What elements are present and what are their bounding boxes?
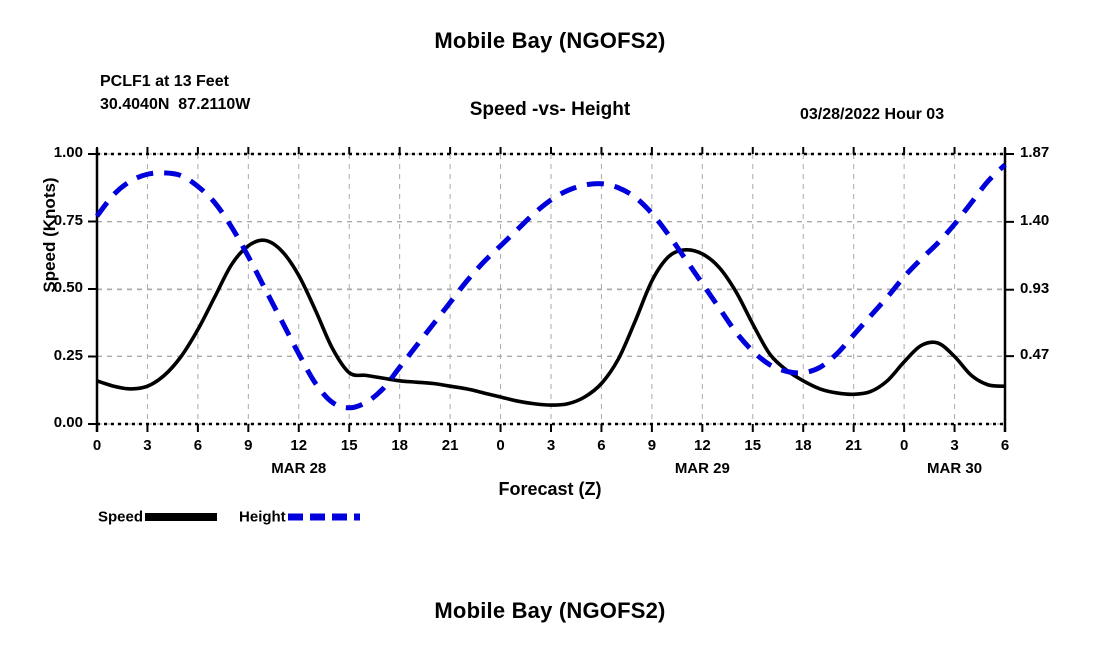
x-ticklabel: 12	[682, 437, 722, 454]
y-left-ticklabel: 1.00	[25, 144, 83, 161]
legend-label: Height	[239, 508, 286, 525]
y-right-ticklabel: 1.87	[1020, 144, 1080, 161]
x-ticklabel: 21	[834, 437, 874, 454]
x-ticklabel: 6	[581, 437, 621, 454]
legend-item-speed: Speed	[98, 508, 239, 526]
x-ticklabel: 18	[783, 437, 823, 454]
x-day-label: MAR 30	[895, 460, 1015, 477]
x-ticklabel: 3	[935, 437, 975, 454]
x-ticklabel: 18	[380, 437, 420, 454]
x-ticklabel: 9	[632, 437, 672, 454]
x-ticklabel: 0	[77, 437, 117, 454]
y-right-ticklabel: 1.40	[1020, 212, 1080, 229]
y-right-ticklabel: 0.93	[1020, 280, 1080, 297]
chart-svg	[0, 0, 1100, 650]
chart-legend: SpeedHeight	[98, 508, 382, 530]
legend-swatch-speed	[145, 511, 217, 523]
x-ticklabel: 3	[531, 437, 571, 454]
legend-label: Speed	[98, 508, 143, 525]
y-right-ticklabel: 0.47	[1020, 346, 1080, 363]
x-ticklabel: 0	[884, 437, 924, 454]
x-ticklabel: 12	[279, 437, 319, 454]
x-ticklabel: 9	[228, 437, 268, 454]
x-ticklabel: 15	[733, 437, 773, 454]
y-left-ticklabel: 0.25	[25, 347, 83, 364]
legend-item-height: Height	[239, 508, 382, 526]
x-ticklabel: 21	[430, 437, 470, 454]
chart-plot-area	[0, 0, 1100, 650]
y-left-ticklabel: 0.50	[25, 279, 83, 296]
legend-swatch-height	[288, 511, 360, 523]
x-ticklabel: 6	[178, 437, 218, 454]
x-day-label: MAR 28	[239, 460, 359, 477]
x-ticklabel: 15	[329, 437, 369, 454]
grid-layer	[97, 154, 1005, 424]
y-left-ticklabel: 0.75	[25, 212, 83, 229]
x-ticklabel: 6	[985, 437, 1025, 454]
page-title-bottom: Mobile Bay (NGOFS2)	[0, 598, 1100, 624]
x-ticklabel: 0	[481, 437, 521, 454]
x-day-label: MAR 29	[642, 460, 762, 477]
x-ticklabel: 3	[127, 437, 167, 454]
y-left-ticklabel: 0.00	[25, 414, 83, 431]
